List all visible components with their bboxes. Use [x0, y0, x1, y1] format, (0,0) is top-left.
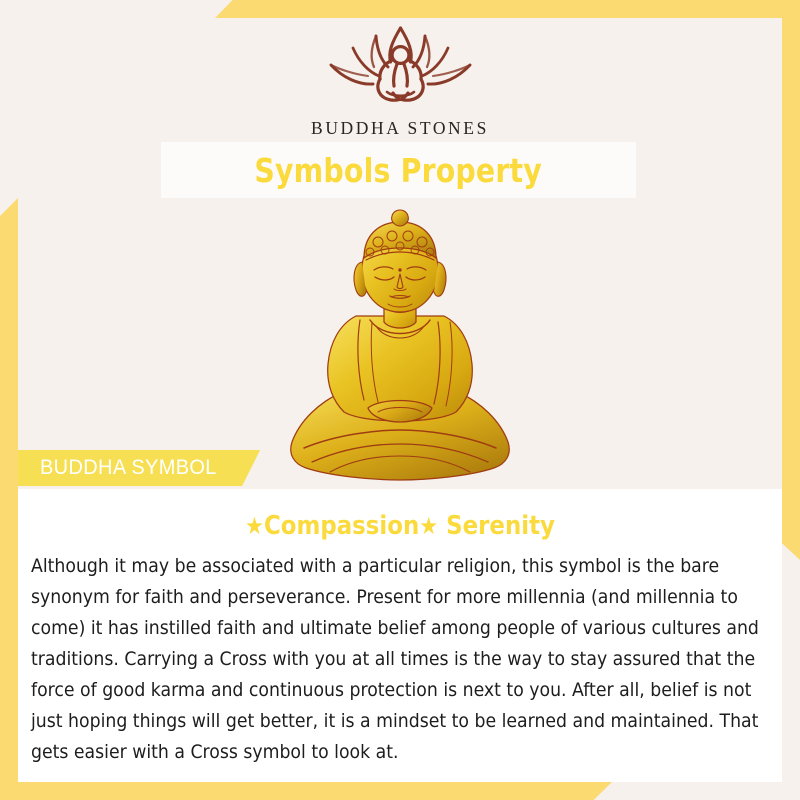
- buddha-symbol-tag: BUDDHA SYMBOL: [18, 450, 260, 486]
- content-subtitle: ★Compassion★ Serenity: [64, 511, 736, 541]
- subtitle-word-compassion: Compassion: [264, 511, 419, 541]
- page-title: Symbols Property: [255, 151, 542, 190]
- buddha-symbol-tag-label: BUDDHA SYMBOL: [40, 456, 217, 480]
- brand-wordmark: BUDDHA STONES: [0, 118, 800, 139]
- poster-canvas: BUDDHA STONES Symbols Property: [0, 0, 800, 800]
- body-paragraph: Although it may be associated with a par…: [31, 551, 775, 768]
- content-panel: ★Compassion★ Serenity Although it may be…: [18, 489, 782, 782]
- star-icon-1: ★: [245, 512, 264, 540]
- subtitle-word-serenity: Serenity: [438, 511, 555, 541]
- decor-bar-left: [0, 198, 18, 800]
- golden-buddha-statue-icon: [260, 196, 540, 496]
- brand-logo-block: BUDDHA STONES: [0, 22, 800, 139]
- title-banner: Symbols Property: [161, 142, 636, 198]
- decor-bar-top: [215, 0, 800, 18]
- buddha-statue-illustration: [260, 196, 540, 496]
- lotus-meditation-figure-icon: [313, 22, 488, 114]
- star-icon-2: ★: [419, 512, 438, 540]
- decor-bar-bottom: [0, 782, 612, 800]
